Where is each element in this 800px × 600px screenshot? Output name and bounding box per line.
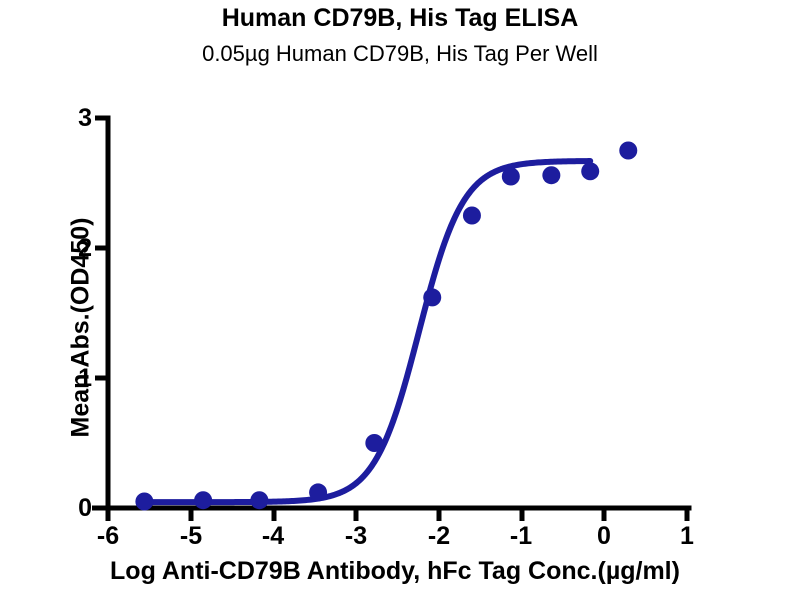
sigmoid-fit-curve [144, 161, 590, 502]
data-point [581, 162, 599, 180]
elisa-chart-figure: Human CD79B, His Tag ELISA 0.05µg Human … [0, 0, 800, 600]
data-point [542, 166, 560, 184]
data-point-markers [135, 142, 637, 511]
data-point [309, 483, 327, 501]
data-point [463, 207, 481, 225]
data-point [502, 168, 520, 186]
data-point [423, 288, 441, 306]
data-point [365, 434, 383, 452]
data-point [619, 142, 637, 160]
data-point [135, 493, 153, 511]
data-point [194, 491, 212, 509]
data-point [250, 491, 268, 509]
plot-area [0, 0, 800, 600]
